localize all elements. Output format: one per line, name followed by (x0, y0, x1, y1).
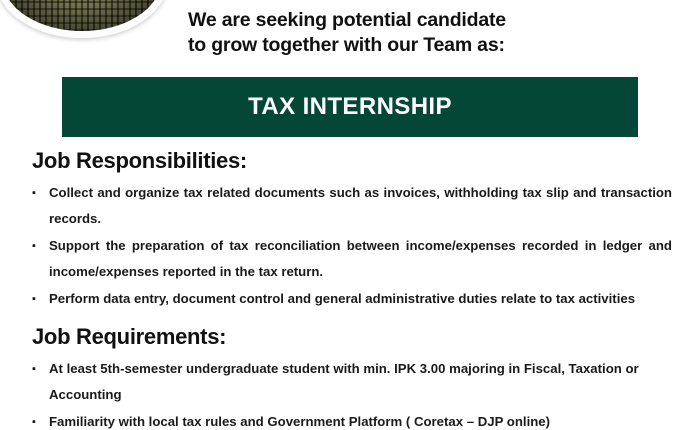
list-item-text: Familiarity with local tax rules and Gov… (49, 414, 550, 429)
headline-line-2: to grow together with our Team as: (188, 33, 608, 58)
list-item: At least 5th-semester undergraduate stud… (32, 356, 672, 408)
section-heading-responsibilities: Job Responsibilities: (32, 148, 700, 174)
headline-line-1: We are seeking potential candidate (188, 8, 608, 33)
requirements-list: At least 5th-semester undergraduate stud… (32, 356, 672, 430)
job-content: Job Responsibilities: Collect and organi… (0, 148, 700, 430)
job-title: TAX INTERNSHIP (248, 93, 452, 121)
section-heading-requirements: Job Requirements: (32, 324, 700, 350)
building-window-lights (3, 0, 161, 31)
headline: We are seeking potential candidate to gr… (188, 8, 608, 58)
office-building-night-photo (0, 0, 168, 38)
job-title-banner: TAX INTERNSHIP (62, 77, 638, 137)
list-item: Perform data entry, document control and… (32, 286, 672, 312)
list-item: Familiarity with local tax rules and Gov… (32, 409, 672, 430)
list-item: Support the preparation of tax reconcili… (32, 233, 672, 285)
responsibilities-list: Collect and organize tax related documen… (32, 180, 672, 312)
list-item-text: Collect and organize tax related documen… (49, 180, 672, 232)
list-item-text: Perform data entry, document control and… (49, 291, 635, 306)
list-item-text: Support the preparation of tax reconcili… (49, 233, 672, 285)
list-item: Collect and organize tax related documen… (32, 180, 672, 232)
list-item-text: At least 5th-semester undergraduate stud… (49, 361, 639, 402)
